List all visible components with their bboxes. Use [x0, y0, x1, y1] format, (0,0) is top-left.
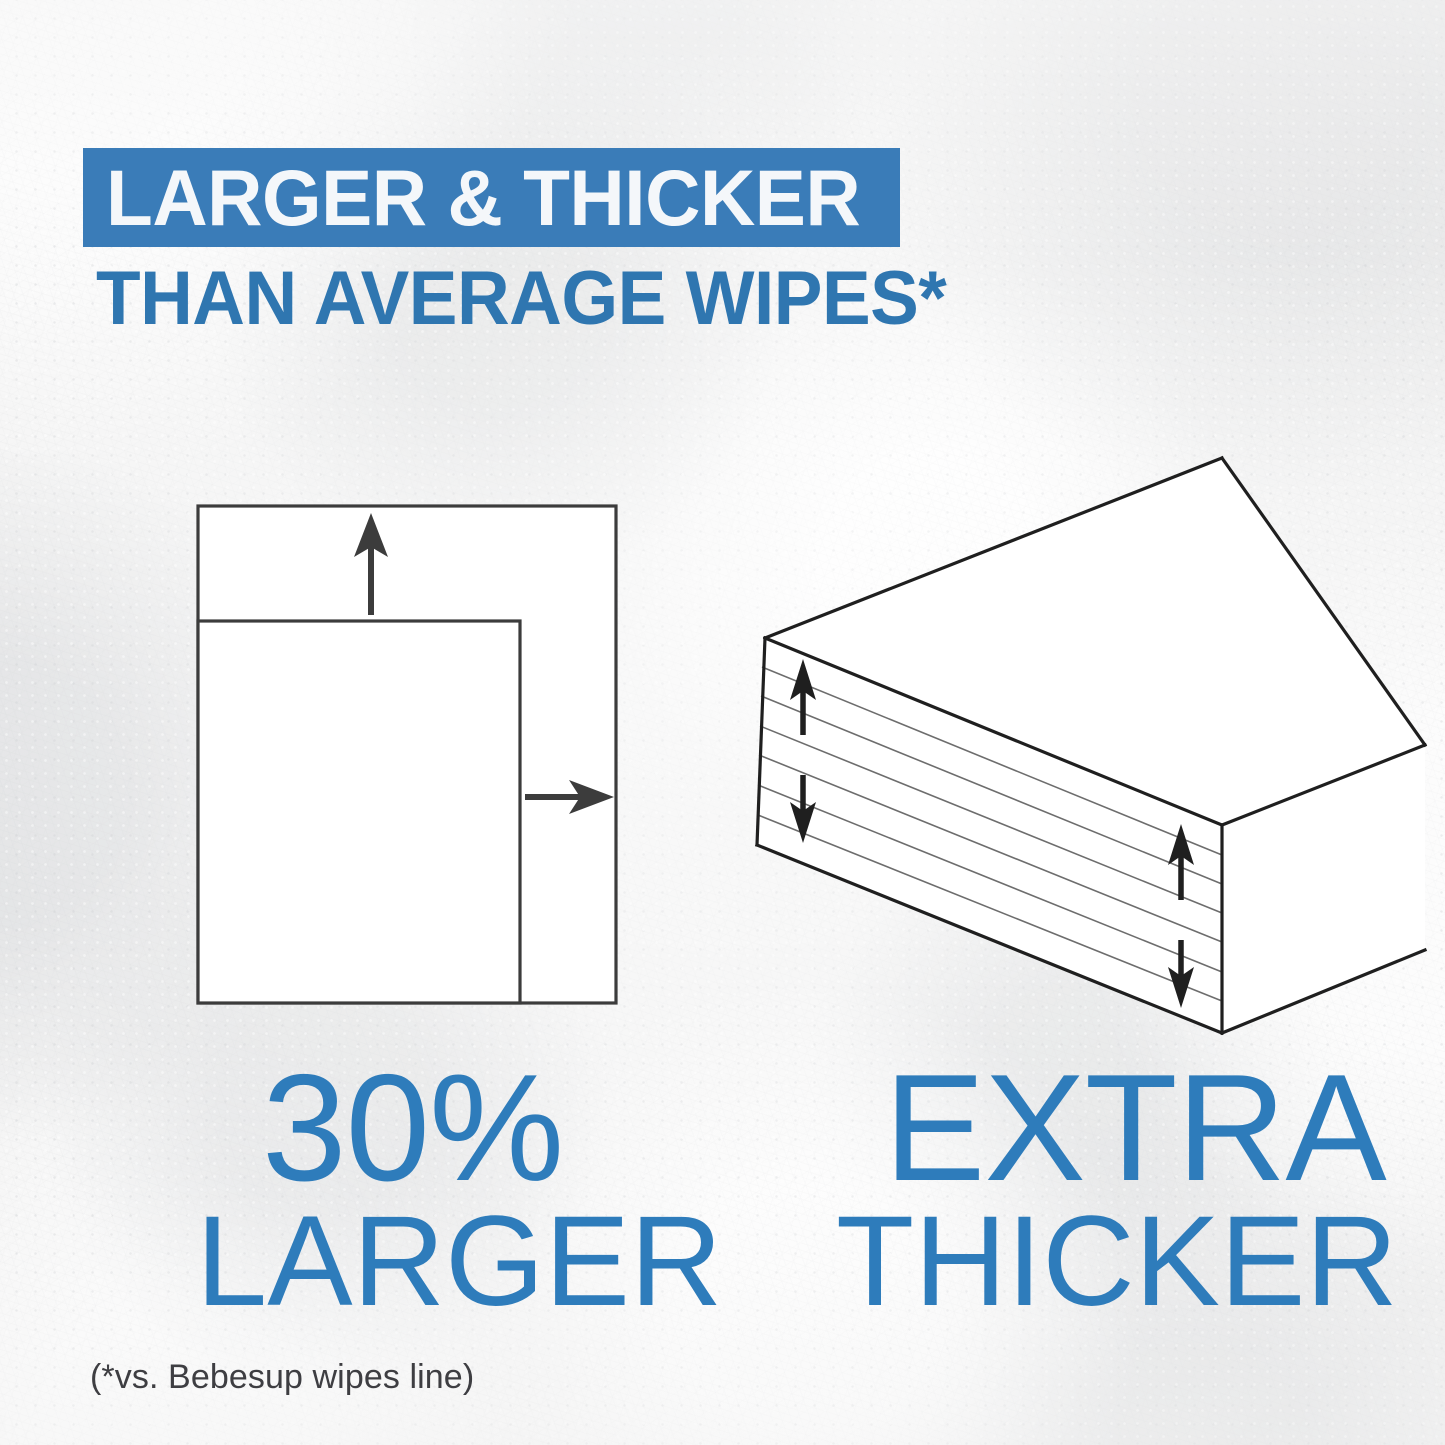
subheadline-text: THAN AVERAGE WIPES*: [96, 261, 946, 337]
product-feature-infographic: LARGER & THICKER THAN AVERAGE WIPES*: [0, 0, 1445, 1445]
right-stat-label: THICKER: [836, 1201, 1398, 1324]
left-stat-value: 30%: [262, 1056, 563, 1202]
headline-banner: LARGER & THICKER: [83, 148, 900, 247]
right-stat-value: EXTRA: [884, 1056, 1386, 1202]
headline-text: LARGER & THICKER: [106, 158, 860, 237]
footnote-text: (*vs. Bebesup wipes line): [90, 1358, 474, 1397]
left-stat-label: LARGER: [196, 1201, 722, 1324]
